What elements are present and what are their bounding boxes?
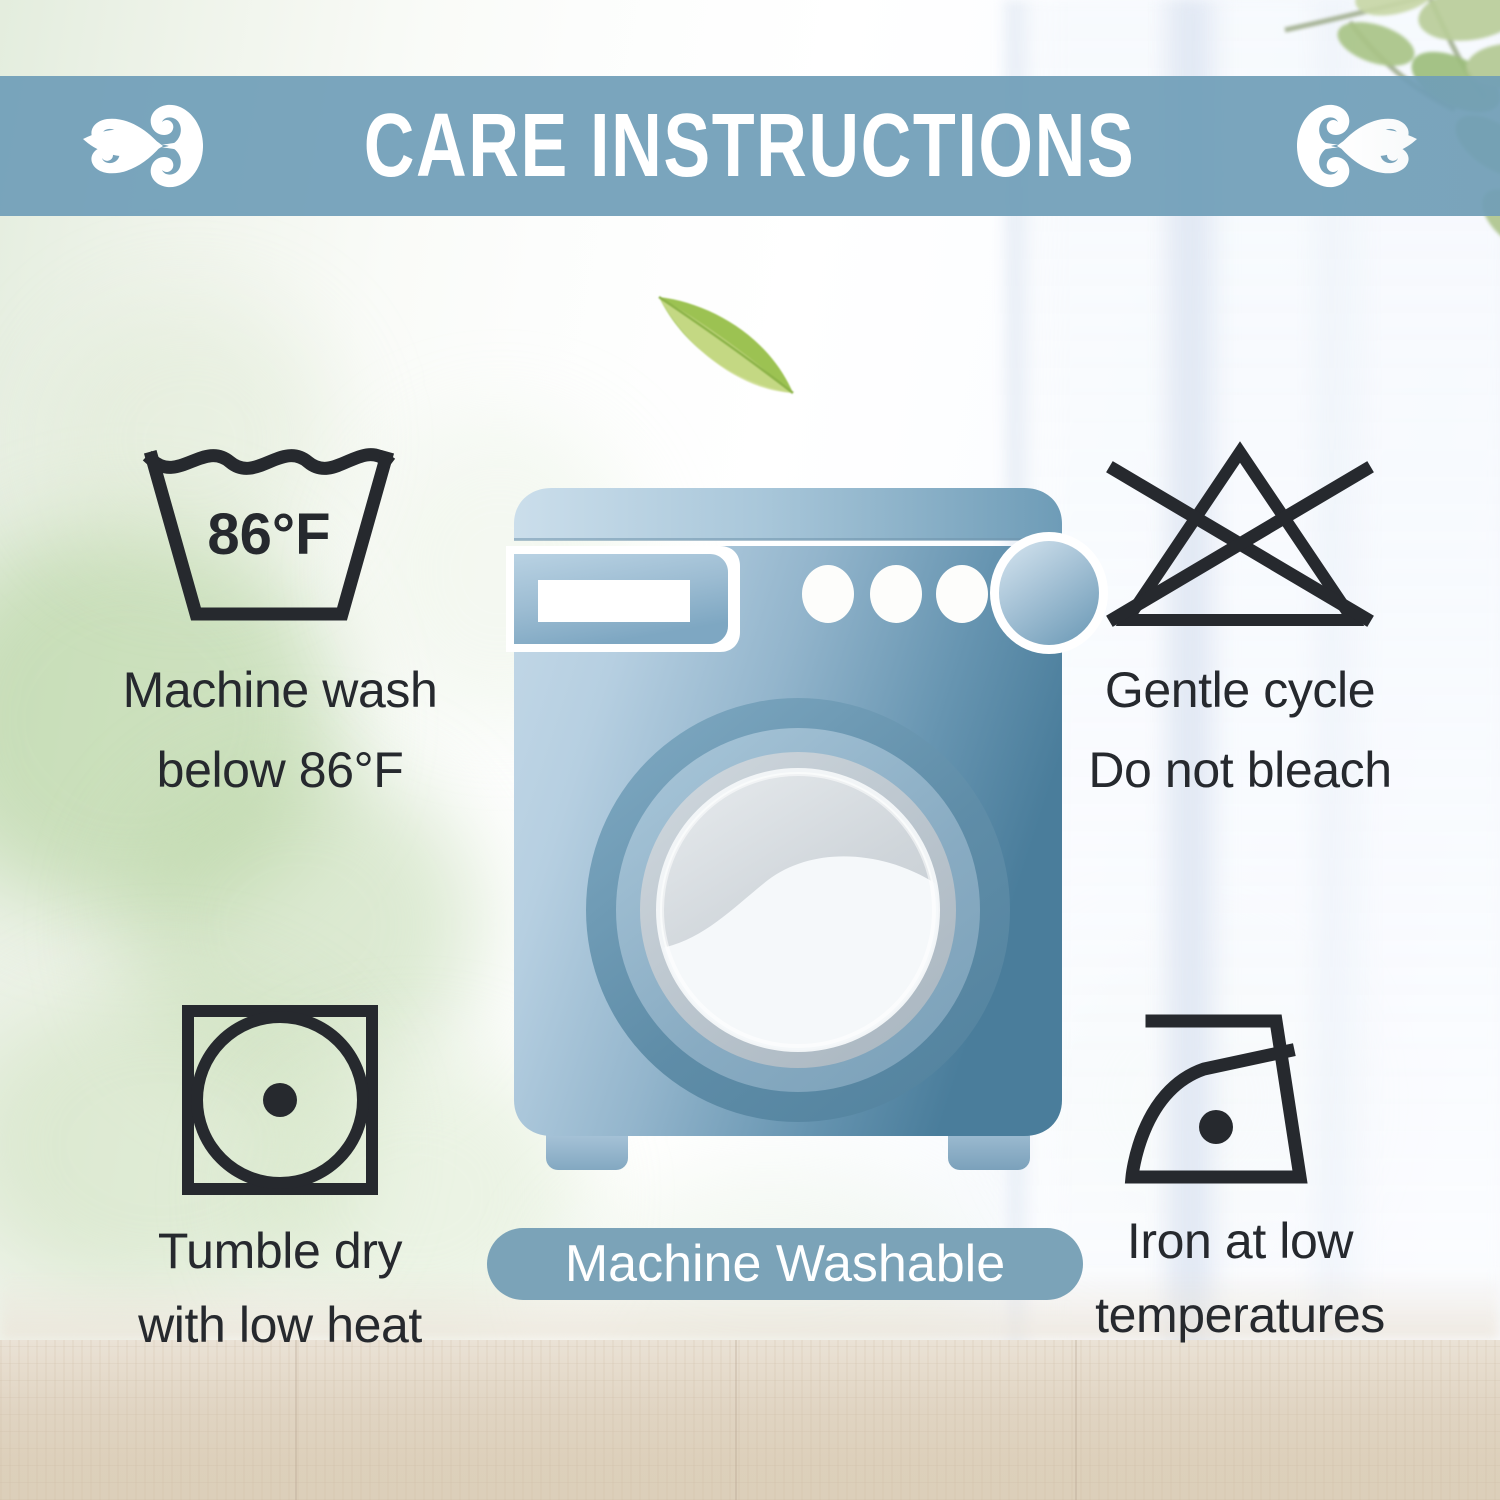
wooden-surface [0, 1340, 1500, 1500]
machine-washable-badge: Machine Washable [487, 1228, 1083, 1300]
wood-plank-seam [735, 1340, 737, 1500]
floating-leaf-icon [645, 275, 825, 415]
control-button [870, 565, 922, 623]
control-knob [999, 541, 1099, 645]
caption-line-2: below 86°F [30, 742, 530, 798]
badge-label: Machine Washable [565, 1238, 1005, 1290]
care-instructions-infographic: CARE INSTRUCTIONS 86°F Machine wash [0, 0, 1500, 1500]
wash-tub-icon: 86°F [30, 438, 530, 638]
wash-temperature-value: 86°F [207, 502, 330, 567]
fleur-de-lis-icon [69, 91, 219, 201]
washer-top-panel [514, 488, 1062, 540]
drawer-slot [538, 580, 690, 622]
washing-machine-illustration [498, 480, 1078, 1180]
page-title: CARE INSTRUCTIONS [364, 101, 1135, 191]
control-button [936, 565, 988, 623]
caption-line-1: Tumble dry [30, 1223, 530, 1279]
care-symbol-tumble-dry: Tumble dry with low heat [30, 995, 530, 1353]
caption-line-1: Machine wash [30, 662, 530, 718]
caption-line-2: temperatures [1000, 1287, 1480, 1343]
caption-line-2: with low heat [30, 1297, 530, 1353]
wood-plank-seam [295, 1340, 297, 1500]
fleur-de-lis-icon [1281, 91, 1431, 201]
header-banner: CARE INSTRUCTIONS [0, 76, 1500, 216]
care-symbol-machine-wash: 86°F Machine wash below 86°F [30, 438, 530, 798]
tumble-dry-low-icon [30, 995, 530, 1205]
wood-plank-seam [1075, 1340, 1077, 1500]
control-button [802, 565, 854, 623]
